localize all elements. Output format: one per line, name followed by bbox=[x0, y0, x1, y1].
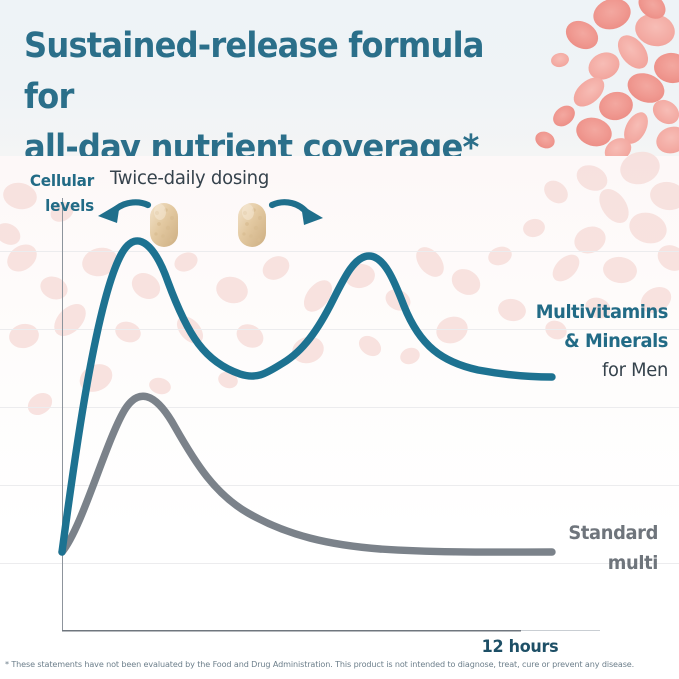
legend-multivitamins-line2: & Minerals bbox=[459, 327, 668, 356]
curved-arrow-right-icon bbox=[272, 202, 323, 225]
curved-arrow-left-icon bbox=[98, 202, 148, 223]
legend-multivitamins: Multivitamins & Minerals for Men bbox=[446, 298, 668, 384]
footnote-disclaimer: * These statements have not been evaluat… bbox=[5, 658, 667, 670]
tablet-icon-right bbox=[238, 203, 266, 247]
legend-multivitamins-line1: Multivitamins bbox=[459, 298, 668, 327]
legend-standard-multi: Standard multi bbox=[459, 518, 658, 578]
dosing-annotation: Twice-daily dosing bbox=[110, 167, 269, 189]
y-axis-label: Cellular levels bbox=[14, 168, 94, 218]
infographic-page: Sustained-release formula for all-day nu… bbox=[0, 0, 679, 679]
legend-multivitamins-line3: for Men bbox=[459, 356, 668, 384]
tablet-icon-left bbox=[150, 203, 178, 247]
x-axis-label: 12 hours bbox=[454, 637, 586, 657]
